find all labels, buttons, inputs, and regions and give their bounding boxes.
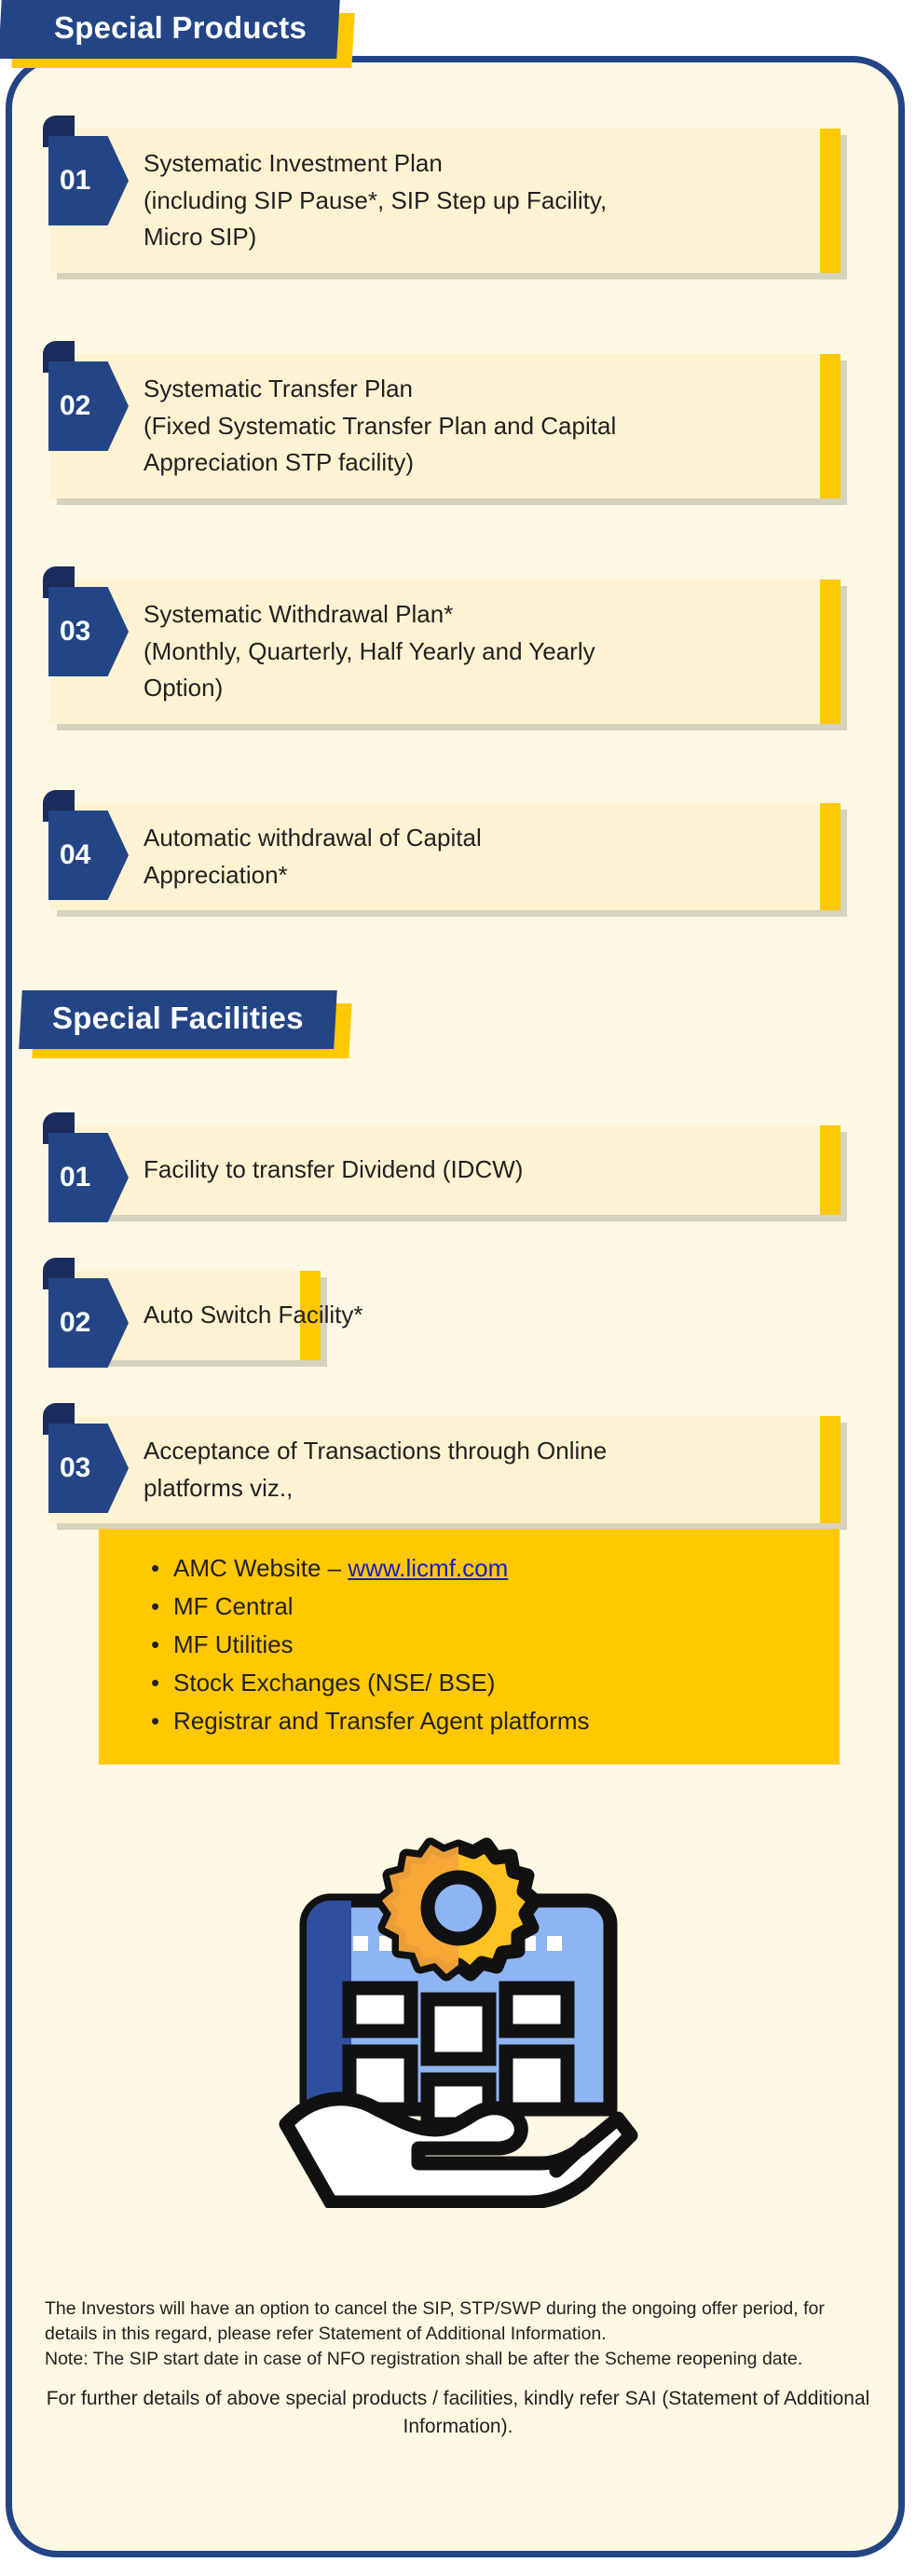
product-row-04: 04 Automatic withdrawal of Capital Appre… [50, 803, 841, 910]
product-row-01: 01 Systematic Investment Plan (including… [50, 129, 841, 273]
product-title-02: Systematic Transfer Plan [144, 375, 413, 402]
building-dot [353, 1936, 368, 1951]
product-sub-01-line-1: (including SIP Pause*, SIP Step up Facil… [144, 183, 607, 220]
product-sub-03-line-2: Option) [144, 670, 595, 707]
licmf-website-link[interactable]: www.licmf.com [348, 1554, 508, 1582]
bullet-text-4: Registrar and Transfer Agent platforms [173, 1707, 590, 1735]
product-card-04-text: Automatic withdrawal of Capital Apprecia… [50, 803, 532, 910]
gear-hole [428, 1877, 489, 1939]
product-title-04: Automatic withdrawal of Capital [144, 824, 482, 852]
building-dot [547, 1936, 562, 1951]
facility-card-02[interactable]: 02 Auto Switch Facility* [50, 1271, 321, 1360]
bullet-text-2: MF Utilities [173, 1630, 294, 1658]
banner-navy-plate: Special Facilities [19, 990, 336, 1049]
list-item: MF Central [151, 1588, 812, 1626]
facility-title-03: Acceptance of Transactions through Onlin… [144, 1437, 607, 1465]
facility-card-03[interactable]: 03 Acceptance of Transactions through On… [50, 1416, 841, 1523]
list-item: Stock Exchanges (NSE/ BSE) [151, 1664, 812, 1702]
product-sub-01-line-2: Micro SIP) [144, 219, 607, 256]
facility-card-01-text: Facility to transfer Dividend (IDCW) [50, 1125, 573, 1215]
product-sub-03-line-1: (Monthly, Quarterly, Half Yearly and Yea… [144, 634, 595, 671]
product-sub-04-line-1: Appreciation* [144, 857, 482, 894]
illustration-container [0, 1817, 916, 2208]
facility-row-03: 03 Acceptance of Transactions through On… [50, 1416, 841, 1765]
product-card-01-text: Systematic Investment Plan (including SI… [50, 129, 657, 273]
section-title-products: Special Products [54, 10, 307, 47]
product-card-04[interactable]: 04 Automatic withdrawal of Capital Appre… [50, 803, 841, 910]
product-row-03: 03 Systematic Withdrawal Plan* (Monthly,… [50, 579, 841, 724]
card-accent-bar [820, 354, 841, 498]
note-line-1: The Investors will have an option to can… [45, 2297, 871, 2347]
note-line-3: For further details of above special pro… [45, 2385, 871, 2441]
facility-sub-03-line-1: platforms viz., [144, 1470, 607, 1507]
bullet-text-3: Stock Exchanges (NSE/ BSE) [173, 1669, 495, 1697]
bullet-text-1: MF Central [173, 1592, 294, 1620]
list-item: AMC Website – www.licmf.com [151, 1549, 812, 1588]
gear-icon [382, 1845, 535, 1974]
section-banner-special-products: Special Products [0, 0, 338, 59]
product-title-01: Systematic Investment Plan [144, 149, 443, 177]
building-window [506, 2051, 567, 2109]
section-title-facilities: Special Facilities [52, 1001, 304, 1037]
list-item: MF Utilities [151, 1626, 812, 1664]
facility-card-03-text: Acceptance of Transactions through Onlin… [50, 1416, 657, 1523]
product-card-02-text: Systematic Transfer Plan (Fixed Systemat… [50, 354, 666, 498]
facility-title-01: Facility to transfer Dividend (IDCW) [144, 1155, 523, 1183]
infographic-page: Special Products 01 Systematic Investmen… [0, 0, 916, 2576]
building-window [428, 1999, 489, 2059]
building-window [349, 1988, 411, 2031]
card-accent-bar [820, 1416, 841, 1523]
bullet-text-0: AMC Website – [173, 1554, 348, 1582]
hand-holding-building-with-gear-icon [277, 1817, 640, 2208]
footer-notes: The Investors will have an option to can… [45, 2297, 871, 2440]
card-accent-bar [820, 579, 841, 724]
product-sub-02-line-2: Appreciation STP facility) [144, 444, 616, 482]
facility-card-02-text: Auto Switch Facility* [50, 1271, 388, 1360]
facility-row-01: 01 Facility to transfer Dividend (IDCW) [50, 1125, 841, 1215]
section-banner-special-facilities: Special Facilities [21, 990, 335, 1049]
product-card-03[interactable]: 03 Systematic Withdrawal Plan* (Monthly,… [50, 579, 841, 724]
facility-card-01[interactable]: 01 Facility to transfer Dividend (IDCW) [50, 1125, 841, 1215]
building-window [506, 1988, 567, 2031]
product-sub-02-line-1: (Fixed Systematic Transfer Plan and Capi… [144, 408, 616, 445]
product-title-03: Systematic Withdrawal Plan* [144, 600, 453, 628]
product-card-02[interactable]: 02 Systematic Transfer Plan (Fixed Syste… [50, 354, 841, 498]
card-accent-bar [820, 129, 841, 273]
facility-title-02: Auto Switch Facility* [144, 1301, 363, 1329]
facility-row-02: 02 Auto Switch Facility* [50, 1271, 321, 1360]
product-card-03-text: Systematic Withdrawal Plan* (Monthly, Qu… [50, 579, 646, 724]
card-accent-bar [820, 1125, 841, 1215]
product-card-01[interactable]: 01 Systematic Investment Plan (including… [50, 129, 841, 273]
banner-navy-plate: Special Products [0, 0, 340, 59]
note-line-2: Note: The SIP start date in case of NFO … [45, 2347, 871, 2372]
online-platforms-list: AMC Website – www.licmf.com MF Central M… [99, 1529, 840, 1765]
list-item: Registrar and Transfer Agent platforms [151, 1702, 812, 1740]
product-row-02: 02 Systematic Transfer Plan (Fixed Syste… [50, 354, 841, 498]
card-accent-bar [820, 803, 841, 910]
